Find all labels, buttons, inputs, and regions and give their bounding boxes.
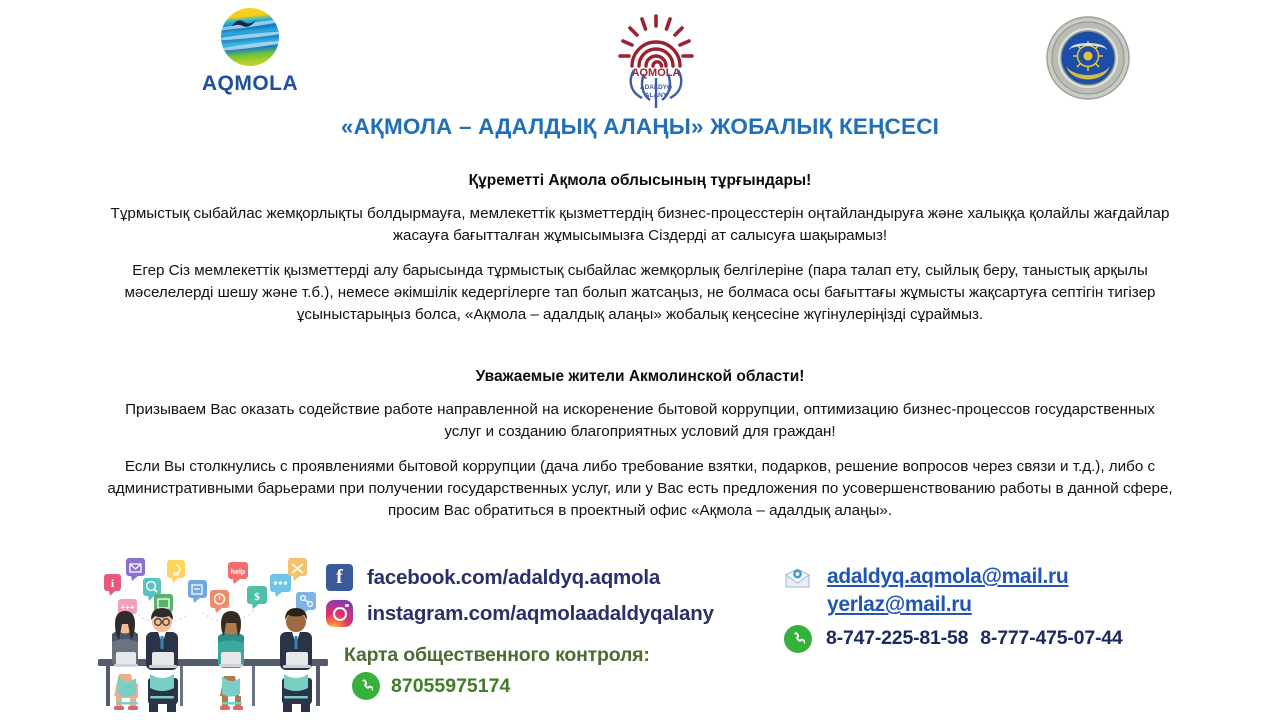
social-links: facebook.com/adaldyq.aqmola instagram.co…	[326, 564, 766, 636]
svg-text:i: i	[111, 578, 114, 590]
call-center-illustration: i +++ h	[92, 556, 334, 716]
whatsapp-icon	[352, 672, 380, 700]
public-control-block: Карта общественного контроля: 8705597517…	[344, 644, 764, 700]
phone-numbers: 8-747-225-81-588-777-475-07-44	[826, 627, 1123, 650]
svg-text:AQMOLA: AQMOLA	[632, 67, 681, 79]
public-control-phone: 87055975174	[391, 675, 510, 698]
facebook-url-label: facebook.com/adaldyq.aqmola	[367, 566, 660, 590]
phone-2: 8-777-475-07-44	[980, 627, 1122, 649]
facebook-icon	[326, 564, 353, 591]
poster-page: AQMOLA	[0, 0, 1280, 720]
state-emblem-seal	[1046, 16, 1130, 100]
svg-text:$: $	[254, 591, 260, 603]
bird-icon	[231, 18, 257, 32]
logo-row: AQMOLA	[0, 0, 1280, 108]
aqmola-logo-caption: AQMOLA	[188, 72, 312, 96]
content-area: Құреметті Ақмола облысының тұрғындары! Т…	[0, 160, 1280, 522]
kz-paragraph-1: Тұрмыстық сыбайлас жемқорлықты болдырмау…	[106, 203, 1174, 247]
email-link-2[interactable]: yerlaz@mail.ru	[827, 592, 1068, 618]
ru-paragraph-2: Если Вы столкнулись с проявлениями бытов…	[95, 456, 1185, 522]
aqmola-adaldyq-alany-logo: AQMOLA ADALDYQ ALANY	[604, 4, 708, 108]
facebook-link[interactable]: facebook.com/adaldyq.aqmola	[326, 564, 766, 591]
whatsapp-phones-row[interactable]: 8-747-225-81-588-777-475-07-44	[784, 625, 1204, 653]
contacts-block: adaldyq.aqmola@mail.ru yerlaz@mail.ru 8-…	[784, 564, 1204, 653]
envelope-icon	[784, 567, 811, 589]
kz-paragraph-2: Егер Сіз мемлекеттік қызметтерді алу бар…	[92, 260, 1188, 326]
instagram-link[interactable]: instagram.com/aqmolaadaldyqalany	[326, 600, 766, 627]
footer: i +++ h	[0, 552, 1280, 720]
whatsapp-icon	[784, 625, 812, 653]
aqmola-region-logo: AQMOLA	[188, 8, 312, 96]
phone-1: 8-747-225-81-58	[826, 627, 968, 649]
kz-heading: Құреметті Ақмола облысының тұрғындары!	[0, 172, 1280, 190]
ru-paragraph-1: Призываем Вас оказать содействие работе …	[106, 399, 1174, 443]
page-title: «АҚМОЛА – АДАЛДЫҚ АЛАҢЫ» ЖОБАЛЫҚ КЕҢСЕСІ	[0, 114, 1280, 140]
svg-text:+++: +++	[120, 603, 134, 612]
svg-text:ALANY: ALANY	[645, 92, 668, 99]
email-row: adaldyq.aqmola@mail.ru yerlaz@mail.ru	[784, 564, 1204, 619]
globe-icon	[221, 8, 279, 66]
instagram-icon	[326, 600, 353, 627]
ru-heading: Уважаемые жители Акмолинской области!	[0, 368, 1280, 386]
public-control-title: Карта общественного контроля:	[344, 644, 764, 667]
email-link-1[interactable]: adaldyq.aqmola@mail.ru	[827, 564, 1068, 590]
instagram-url-label: instagram.com/aqmolaadaldyqalany	[367, 602, 714, 626]
svg-text:ADALDYQ: ADALDYQ	[640, 84, 672, 91]
svg-text:help: help	[231, 569, 245, 576]
public-control-phone-row[interactable]: 87055975174	[344, 672, 764, 700]
